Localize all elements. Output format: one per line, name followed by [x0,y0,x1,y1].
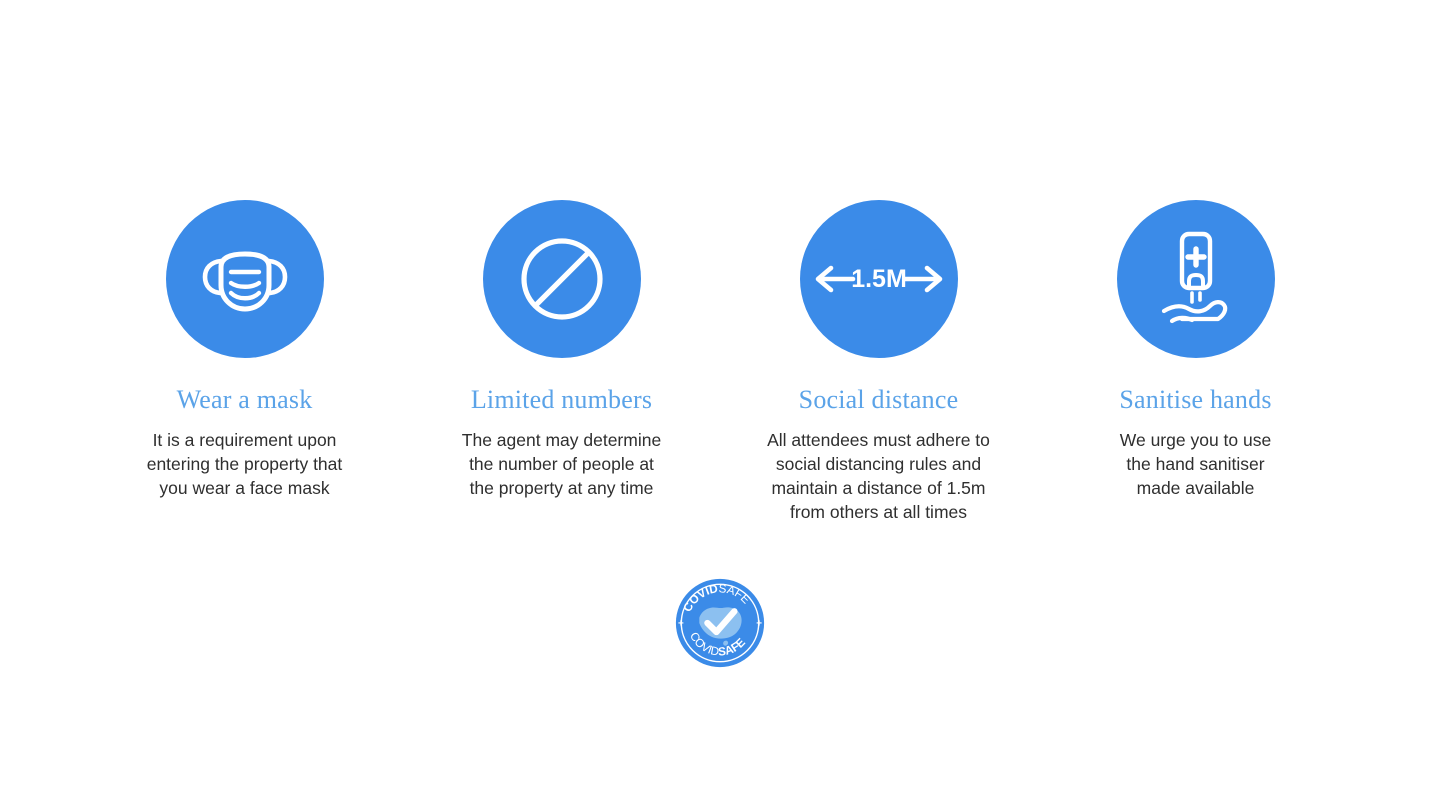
badge-container: COVIDSAFE COVIDSAFE + + [0,578,1440,668]
guideline-column-wear-a-mask: Wear a mask It is a requirement upon ent… [86,200,403,500]
column-heading: Wear a mask [177,386,313,415]
column-body-text: It is a requirement upon entering the pr… [147,428,343,500]
poster-canvas: Wear a mask It is a requirement upon ent… [0,0,1440,810]
guideline-column-sanitise-hands: Sanitise hands We urge you to use the ha… [1037,200,1354,500]
guidelines-columns: Wear a mask It is a requirement upon ent… [86,200,1354,524]
column-heading: Social distance [799,386,959,415]
guideline-column-limited-numbers: Limited numbers The agent may determine … [403,200,720,500]
arrow-right-icon [905,268,940,290]
column-body-text: We urge you to use the hand sanitiser ma… [1120,428,1271,500]
guideline-column-social-distance: 1.5M Social distance All attendees must … [720,200,1037,524]
column-body-text: The agent may determine the number of pe… [462,428,661,500]
hand-sanitiser-icon [1117,200,1275,358]
column-body-text: All attendees must adhere to social dist… [767,428,990,524]
arrow-left-icon [818,268,853,290]
distance-label: 1.5M [851,265,907,293]
face-mask-icon [166,200,324,358]
badge-separator-right: + [756,619,762,630]
column-heading: Limited numbers [471,386,652,415]
badge-separator-left: + [678,619,684,630]
social-distance-arrows-icon: 1.5M [800,200,958,358]
no-entry-circle-slash-icon [483,200,641,358]
column-heading: Sanitise hands [1119,386,1271,415]
covidsafe-badge: COVIDSAFE COVIDSAFE + + [675,578,765,668]
